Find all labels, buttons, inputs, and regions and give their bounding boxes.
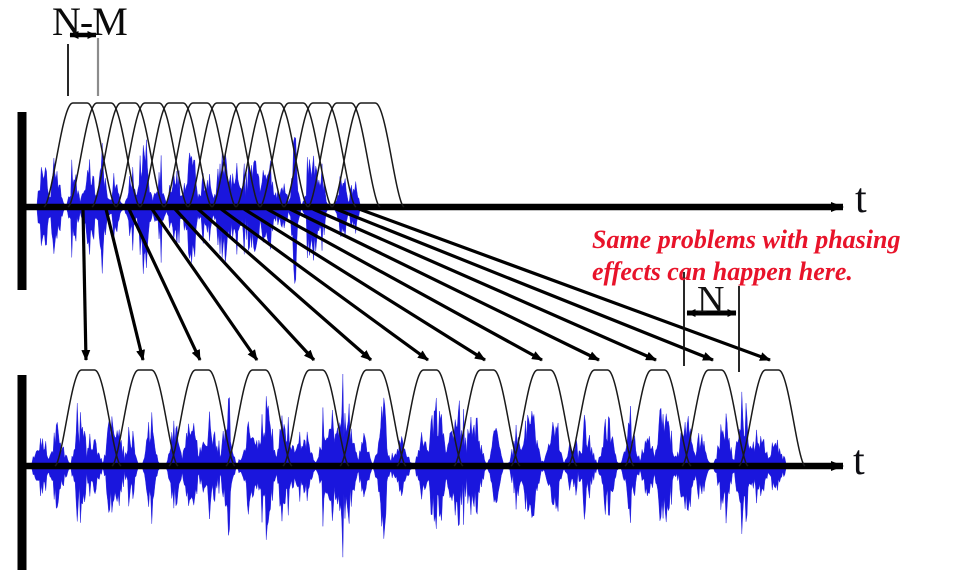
synthesis-panel [18, 370, 843, 570]
axis-label-t-bottom: t [853, 440, 865, 482]
figure-canvas: N-M N t t Same problems with phasing eff… [0, 0, 977, 583]
mapping-arrow [106, 209, 143, 360]
mapping-arrow [83, 209, 86, 360]
mapping-arrow [290, 209, 599, 360]
mapping-arrow [267, 209, 542, 360]
phasing-note: Same problems with phasing effects can h… [592, 224, 952, 287]
axis-label-t-top: t [855, 178, 867, 220]
signal-diagram [0, 0, 977, 583]
mapping-arrow [152, 209, 257, 360]
hop-label-top: N-M [52, 2, 127, 42]
